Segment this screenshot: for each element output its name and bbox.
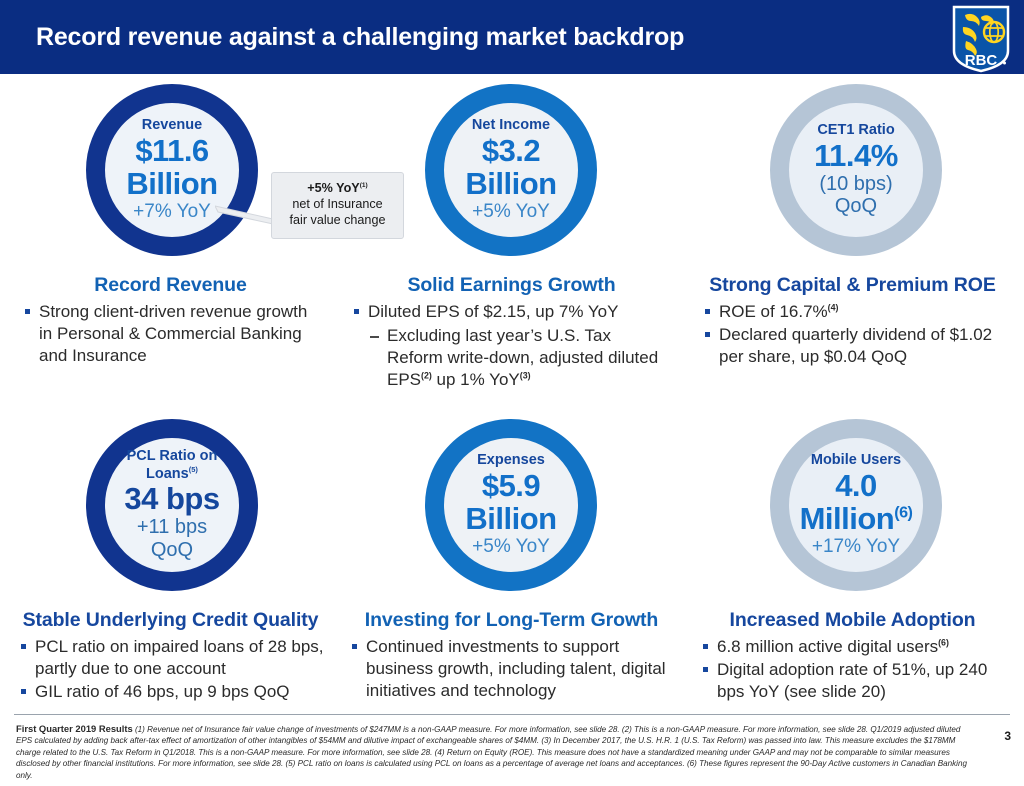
metric-circle-mobile-users: Mobile Users 4.0 Million(6) +17% YoY (770, 419, 942, 591)
metric-sub: +17% YoY (812, 536, 900, 557)
footnote-ref: (5) (189, 465, 198, 474)
metric-sub: +5% YoY (472, 536, 550, 557)
sub-bullet-list: Excluding last year’s U.S. Tax Reform wr… (368, 325, 670, 391)
bullet-list-strong-capital-premium-roe: ROE of 16.7%(4) Declared quarterly divid… (682, 301, 1023, 368)
circle-wrap-cet1-ratio: CET1 Ratio 11.4% (10 bps) QoQ (682, 84, 1023, 270)
page-title: Record revenue against a challenging mar… (36, 23, 684, 52)
metric-value-line2: Billion (465, 503, 556, 536)
list-item: Strong client-driven revenue growth in P… (22, 301, 325, 367)
bullet-list-investing-for-long-term-growth: Continued investments to support busines… (341, 636, 682, 702)
footnote-ref: (4) (828, 302, 839, 312)
bullet-list-solid-earnings-growth: Diluted EPS of $2.15, up 7% YoY Excludin… (341, 301, 682, 391)
list-item: Continued investments to support busines… (349, 636, 672, 702)
metric-value-line2: Billion (126, 168, 217, 201)
metric-cell-cet1-ratio: CET1 Ratio 11.4% (10 bps) QoQ Strong Cap… (682, 84, 1023, 404)
metric-circle-pcl-ratio: PCL Ratio on Loans(5) 34 bps +11 bps QoQ (86, 419, 258, 591)
footnote-ref: (6) (938, 637, 949, 647)
metric-value-line2: Billion (465, 168, 556, 201)
metric-label-line1: PCL Ratio on (127, 449, 218, 465)
metric-value-line1: 4.0 (835, 470, 877, 503)
list-item: Diluted EPS of $2.15, up 7% YoY Excludin… (351, 301, 670, 391)
bullet-list-record-revenue: Strong client-driven revenue growth in P… (0, 301, 341, 367)
metric-value-line1: $3.2 (482, 135, 540, 168)
metric-cell-pcl-ratio: PCL Ratio on Loans(5) 34 bps +11 bps QoQ… (0, 419, 341, 719)
footer-divider (14, 714, 1010, 715)
metric-sub-line1: (10 bps) (819, 173, 892, 195)
metric-cell-mobile-users: Mobile Users 4.0 Million(6) +17% YoY Inc… (682, 419, 1023, 719)
footnote-ref: (6) (894, 504, 912, 522)
footnotes: First Quarter 2019 Results (1) Revenue n… (16, 722, 976, 781)
metric-value-line1: 11.4% (814, 140, 898, 173)
footnotes-title: First Quarter 2019 Results (16, 723, 133, 734)
circle-wrap-pcl-ratio: PCL Ratio on Loans(5) 34 bps +11 bps QoQ (0, 419, 341, 605)
section-heading-solid-earnings-growth: Solid Earnings Growth (341, 274, 682, 297)
logo-wordmark: RBC (965, 52, 998, 69)
metric-label: Mobile Users (811, 453, 901, 469)
metric-circle-net-income: Net Income $3.2 Billion +5% YoY (425, 84, 597, 256)
metric-sub-line2: QoQ (835, 195, 877, 217)
rbc-shield-logo: RBC (950, 5, 1012, 73)
metric-value-line1: $5.9 (482, 470, 540, 503)
callout-line3: fair value change (279, 213, 396, 229)
callout-line2: net of Insurance (279, 197, 396, 213)
list-item: Digital adoption rate of 51%, up 240 bps… (700, 659, 1013, 703)
section-heading-record-revenue: Record Revenue (0, 274, 341, 297)
metric-label-line2: Loans(5) (146, 466, 198, 482)
footnote-ref: (2) (421, 370, 432, 380)
list-item: PCL ratio on impaired loans of 28 bps, p… (18, 636, 331, 680)
list-item: ROE of 16.7%(4) (702, 301, 1013, 323)
metric-circle-cet1-ratio: CET1 Ratio 11.4% (10 bps) QoQ (770, 84, 942, 256)
metric-circle-revenue: Revenue $11.6 Billion +7% YoY (86, 84, 258, 256)
list-item: GIL ratio of 46 bps, up 9 bps QoQ (18, 681, 331, 703)
metric-cell-expenses: Expenses $5.9 Billion +5% YoY Investing … (341, 419, 682, 719)
circle-wrap-expenses: Expenses $5.9 Billion +5% YoY (341, 419, 682, 605)
metric-label: Expenses (477, 453, 545, 469)
metric-cell-net-income: Net Income $3.2 Billion +5% YoY Solid Ea… (341, 84, 682, 404)
metric-sub: +5% YoY (472, 201, 550, 222)
list-item-text: Diluted EPS of $2.15, up 7% YoY (368, 302, 618, 321)
footnote-ref: (3) (520, 370, 531, 380)
metric-circle-expenses: Expenses $5.9 Billion +5% YoY (425, 419, 597, 591)
metrics-grid: Revenue $11.6 Billion +7% YoY +5% YoY(1)… (0, 74, 1024, 710)
metric-label: CET1 Ratio (817, 123, 894, 139)
footnotes-text: (1) Revenue net of Insurance fair value … (16, 725, 967, 780)
page-number: 3 (1004, 729, 1011, 743)
metric-sub-line1: +11 bps (137, 516, 207, 538)
metric-sub-line2: QoQ (151, 539, 193, 561)
metric-label: Net Income (472, 118, 550, 134)
callout-box-revenue: +5% YoY(1) net of Insurance fair value c… (271, 172, 404, 239)
callout-line1: +5% YoY(1) (279, 181, 396, 197)
section-heading-strong-capital-premium-roe: Strong Capital & Premium ROE (682, 274, 1023, 297)
metric-sub: +7% YoY (133, 201, 211, 222)
metric-value-line2: Million(6) (800, 503, 913, 536)
section-heading-increased-mobile-adoption: Increased Mobile Adoption (682, 609, 1023, 632)
section-heading-investing-for-long-term-growth: Investing for Long-Term Growth (341, 609, 682, 632)
bullet-list-stable-underlying-credit-quality: PCL ratio on impaired loans of 28 bps, p… (0, 636, 341, 703)
metric-value-line1: $11.6 (135, 135, 208, 168)
bullet-list-increased-mobile-adoption: 6.8 million active digital users(6) Digi… (682, 636, 1023, 703)
callout-footnote-ref: (1) (360, 182, 368, 189)
section-heading-stable-underlying-credit-quality: Stable Underlying Credit Quality (0, 609, 341, 632)
callout-pointer-icon (215, 202, 275, 226)
circle-wrap-mobile-users: Mobile Users 4.0 Million(6) +17% YoY (682, 419, 1023, 605)
rbc-shield-icon: RBC (950, 5, 1012, 73)
metric-cell-revenue: Revenue $11.6 Billion +7% YoY +5% YoY(1)… (0, 84, 341, 404)
metric-label: Revenue (142, 118, 202, 134)
circle-wrap-revenue: Revenue $11.6 Billion +7% YoY +5% YoY(1)… (0, 84, 341, 270)
list-item: Declared quarterly dividend of $1.02 per… (702, 324, 1013, 368)
sub-list-item: Excluding last year’s U.S. Tax Reform wr… (368, 325, 670, 391)
metric-value-line1: 34 bps (124, 483, 219, 516)
list-item: 6.8 million active digital users(6) (700, 636, 1013, 658)
